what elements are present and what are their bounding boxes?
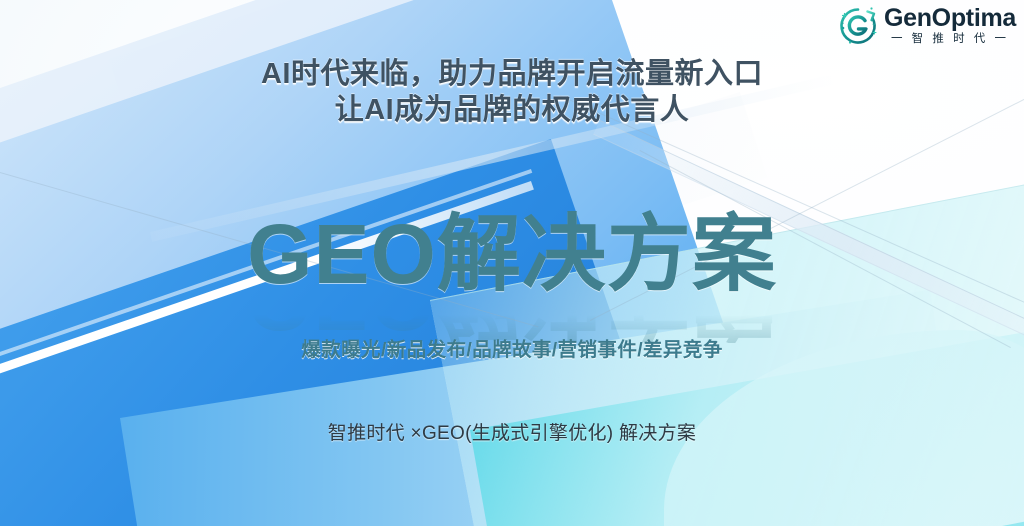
brand-logo[interactable]: GenOptima 一 智 推 时 代 一 — [836, 4, 1016, 48]
brand-name: GenOptima — [884, 6, 1016, 31]
geno-g-circle-icon — [836, 4, 880, 48]
headline: AI时代来临，助力品牌开启流量新入口 让AI成为品牌的权威代言人 — [0, 57, 1024, 129]
presentation-slide: GenOptima 一 智 推 时 代 一 AI时代来临，助力品牌开启流量新入口… — [0, 0, 1024, 526]
hero-title-block: GEO解决方案 GEO解决方案 — [0, 212, 1024, 343]
footer-caption: 智推时代 ×GEO(生成式引擎优化) 解决方案 — [0, 418, 1024, 445]
sub-tagline: 爆款曝光/新品发布/品牌故事/营销事件/差异竞争 — [0, 333, 1024, 362]
brand-logo-text: GenOptima 一 智 推 时 代 一 — [884, 6, 1016, 46]
brand-tagline: 一 智 推 时 代 一 — [891, 34, 1009, 46]
slide-content: GenOptima 一 智 推 时 代 一 AI时代来临，助力品牌开启流量新入口… — [0, 0, 1024, 526]
page-title: GEO解决方案 — [0, 212, 1024, 296]
